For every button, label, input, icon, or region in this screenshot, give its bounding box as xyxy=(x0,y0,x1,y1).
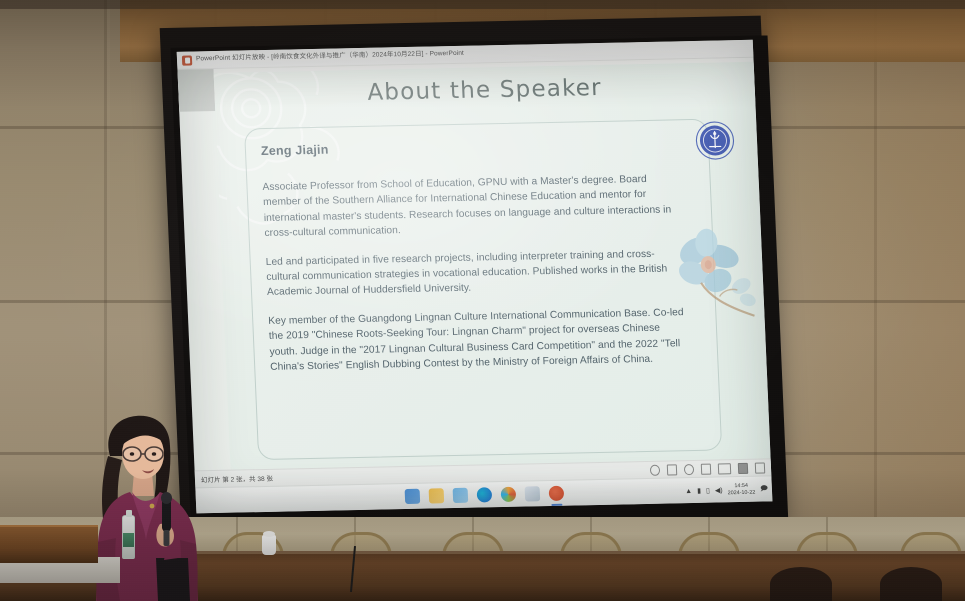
projected-desktop: PowerPoint 幻灯片放映 - [岭南饮食文化外译与推广（华南）2024年… xyxy=(177,40,773,514)
sorter-view-icon[interactable] xyxy=(718,463,731,474)
water-bottle xyxy=(122,515,135,559)
window-title: PowerPoint 幻灯片放映 - [岭南饮食文化外译与推广（华南）2024年… xyxy=(196,51,464,63)
chevron-up-icon[interactable]: ▲ xyxy=(685,488,692,495)
file-explorer-icon[interactable] xyxy=(428,488,444,503)
microsoft-store-icon[interactable] xyxy=(452,488,468,503)
bio-paragraph-1: Associate Professor from School of Educa… xyxy=(262,171,683,241)
slide-canvas[interactable]: About the Speaker xyxy=(214,62,771,477)
powerpoint-logo-icon xyxy=(182,55,192,65)
slideshow-view-icon[interactable] xyxy=(755,462,765,473)
bottle-label xyxy=(123,533,134,547)
normal-view-icon[interactable] xyxy=(701,463,711,474)
start-button[interactable] xyxy=(404,489,420,504)
volume-icon[interactable]: ◀) xyxy=(715,486,723,494)
edge-browser-icon[interactable] xyxy=(476,487,492,502)
system-tray[interactable]: ▲ ▮ ▯ ◀) 14:54 2024-10-22 🗩 xyxy=(685,476,769,504)
status-bar-icons[interactable] xyxy=(650,462,765,475)
wall-seam-top xyxy=(0,0,965,9)
photos-icon[interactable] xyxy=(500,487,516,502)
taskbar-app-icons[interactable] xyxy=(404,486,564,504)
wooden-lectern xyxy=(0,525,98,563)
slide-title: About the Speaker xyxy=(214,72,755,109)
paper-cup xyxy=(262,535,276,555)
excel-icon[interactable] xyxy=(524,486,540,501)
taskbar-clock[interactable]: 14:54 2024-10-22 xyxy=(727,482,755,497)
tray-time: 14:54 xyxy=(734,483,748,489)
comments-icon[interactable] xyxy=(667,464,677,475)
accessibility-icon[interactable] xyxy=(684,463,694,474)
battery-icon[interactable]: ▯ xyxy=(706,487,710,495)
bio-paragraph-2: Led and participated in five research pr… xyxy=(265,246,685,301)
speaker-bio: Associate Professor from School of Educa… xyxy=(262,171,688,375)
lecture-hall-scene: PowerPoint 幻灯片放映 - [岭南饮食文化外译与推广（华南）2024年… xyxy=(0,0,965,601)
projection-screen: PowerPoint 幻灯片放映 - [岭南饮食文化外译与推广（华南）2024年… xyxy=(168,24,774,536)
speaker-name: Zeng Jiajin xyxy=(261,143,329,158)
bio-paragraph-3: Key member of the Guangdong Lingnan Cult… xyxy=(268,305,689,375)
network-icon[interactable]: ▮ xyxy=(697,487,701,495)
notification-icon[interactable]: 🗩 xyxy=(760,484,768,495)
tray-date: 2024-10-22 xyxy=(728,490,756,497)
audience-head-silhouette xyxy=(880,567,942,601)
notes-icon[interactable] xyxy=(650,464,660,475)
powerpoint-icon[interactable] xyxy=(548,486,564,501)
reading-view-icon[interactable] xyxy=(738,462,748,473)
audience-head-silhouette xyxy=(770,567,832,601)
slide-thumbnail-pane[interactable] xyxy=(177,69,215,112)
